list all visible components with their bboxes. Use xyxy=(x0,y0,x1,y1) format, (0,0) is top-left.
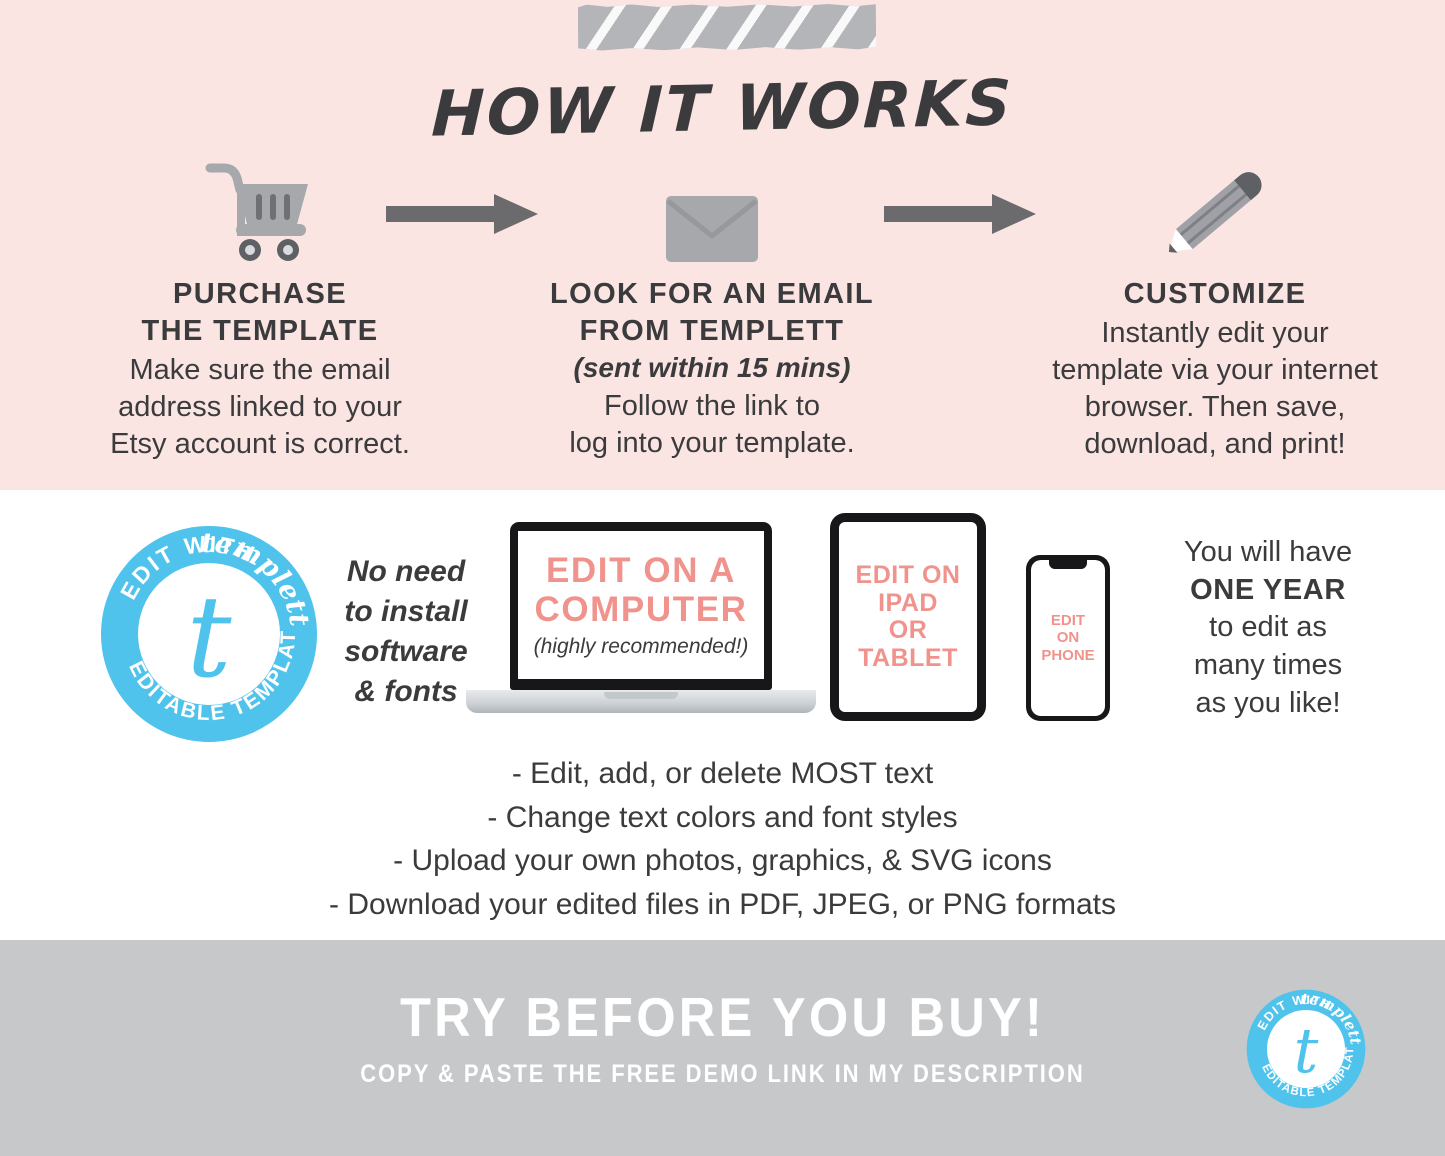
phone-mockup: EDIT ON PHONE xyxy=(1026,555,1110,721)
step-body-line2: template via your internet xyxy=(1010,352,1420,389)
step-body-line4: download, and print! xyxy=(1010,426,1420,463)
list-item: - Change text colors and font styles xyxy=(0,796,1445,840)
step-body: Follow the link to log into your templat… xyxy=(498,388,926,462)
step-heading: CUSTOMIZE xyxy=(1010,276,1420,313)
list-item: - Upload your own photos, graphics, & SV… xyxy=(0,839,1445,883)
step-heading-line1: PURCHASE xyxy=(60,276,460,313)
step-body-line2: address linked to your xyxy=(60,389,460,426)
badge-center-letter: t xyxy=(186,573,232,703)
laptop-screen-line2: COMPUTER xyxy=(534,590,747,629)
step-heading: LOOK FOR AN EMAIL FROM TEMPLETT xyxy=(498,276,926,350)
shopping-cart-glyph xyxy=(204,158,316,262)
step-body-line1: Follow the link to xyxy=(498,388,926,425)
tablet-screen-line1: EDIT ON xyxy=(856,562,961,590)
templett-badge-glyph: EDIT WITH templett EDITABLE TEMPLATE t xyxy=(98,523,320,745)
laptop-trackpad-notch xyxy=(604,692,678,699)
one-year-line4: as you like! xyxy=(1118,685,1418,723)
one-year-line2: to edit as xyxy=(1118,609,1418,647)
list-item: - Download your edited files in PDF, JPE… xyxy=(0,883,1445,927)
envelope-glyph xyxy=(666,196,758,262)
no-need-line1: No need xyxy=(326,552,486,592)
footer-title: TRY BEFORE YOU BUY! xyxy=(58,985,1387,1049)
step-body-line1: Make sure the email xyxy=(60,352,460,389)
list-item: - Edit, add, or delete MOST text xyxy=(0,752,1445,796)
one-year-line3: many times xyxy=(1118,647,1418,685)
laptop-lid: EDIT ON A COMPUTER (highly recommended!) xyxy=(510,522,772,690)
tablet-screen-line2: IPAD xyxy=(856,590,961,618)
tablet-screen-line3: OR xyxy=(856,617,961,645)
washi-tape-icon xyxy=(578,3,876,50)
tablet-screen: EDIT ON IPAD OR TABLET xyxy=(839,522,977,712)
phone-screen-line1: EDIT xyxy=(1041,612,1094,629)
phone-screen: EDIT ON PHONE xyxy=(1031,560,1105,716)
laptop-screen: EDIT ON A COMPUTER (highly recommended!) xyxy=(518,531,764,679)
step-body: Make sure the email address linked to yo… xyxy=(60,352,460,463)
one-year-line1: You will have xyxy=(1118,534,1418,572)
laptop-screen-line1: EDIT ON A xyxy=(546,551,736,590)
footer-subtitle: COPY & PASTE THE FREE DEMO LINK IN MY DE… xyxy=(87,1060,1359,1089)
step-heading: PURCHASE THE TEMPLATE xyxy=(60,276,460,350)
step-body-line1: Instantly edit your xyxy=(1010,315,1420,352)
tablet-screen-line4: TABLET xyxy=(856,645,961,673)
templett-badge-small: EDIT WITH templett EDITABLE TEMPLATE t xyxy=(1245,988,1367,1110)
phone-body: EDIT ON PHONE xyxy=(1026,555,1110,721)
tablet-body: EDIT ON IPAD OR TABLET xyxy=(830,513,986,721)
one-year-highlight: ONE YEAR xyxy=(1190,574,1346,606)
pencil-glyph xyxy=(1156,162,1274,262)
laptop-mockup: EDIT ON A COMPUTER (highly recommended!) xyxy=(466,522,816,734)
laptop-screen-note: (highly recommended!) xyxy=(534,635,749,659)
how-it-works-infographic: HOW IT WORKS PURCHASE THE TEMPLATE Ma xyxy=(0,0,1445,1156)
templett-badge-glyph: EDIT WITH templett EDITABLE TEMPLATE t xyxy=(1245,988,1367,1110)
phone-screen-line3: PHONE xyxy=(1041,647,1094,664)
feature-bullet-list: - Edit, add, or delete MOST text - Chang… xyxy=(0,752,1445,926)
envelope-icon xyxy=(498,150,926,262)
footer-banner: TRY BEFORE YOU BUY! COPY & PASTE THE FRE… xyxy=(0,940,1445,1156)
step-customize: CUSTOMIZE Instantly edit your template v… xyxy=(1010,150,1420,464)
no-need-line2: to install xyxy=(326,592,486,632)
step-body-line2: log into your template. xyxy=(498,425,926,462)
no-need-line4: & fonts xyxy=(326,672,486,712)
step-body-line3: Etsy account is correct. xyxy=(60,426,460,463)
step-heading-line1: LOOK FOR AN EMAIL xyxy=(498,276,926,313)
pencil-icon xyxy=(1010,150,1420,262)
washi-tape-stripes xyxy=(578,3,876,50)
step-look-for-email: LOOK FOR AN EMAIL FROM TEMPLETT (sent wi… xyxy=(498,150,926,462)
no-need-line3: software xyxy=(326,632,486,672)
step-heading-line2: FROM TEMPLETT xyxy=(498,313,926,350)
no-need-text: No need to install software & fonts xyxy=(326,552,486,712)
phone-notch xyxy=(1049,560,1087,569)
one-year-text: You will have ONE YEAR to edit as many t… xyxy=(1118,534,1418,722)
phone-screen-line2: ON xyxy=(1041,629,1094,646)
step-heading-line1: CUSTOMIZE xyxy=(1010,276,1420,313)
badge-center-letter: t xyxy=(1294,1015,1319,1087)
step-body-line3: browser. Then save, xyxy=(1010,389,1420,426)
tablet-mockup: EDIT ON IPAD OR TABLET xyxy=(830,513,986,721)
templett-badge-large: EDIT WITH templett EDITABLE TEMPLATE t xyxy=(98,523,320,745)
step-heading-line2: THE TEMPLATE xyxy=(60,313,460,350)
step-body: Instantly edit your template via your in… xyxy=(1010,315,1420,463)
step-italic-note: (sent within 15 mins) xyxy=(498,350,926,386)
